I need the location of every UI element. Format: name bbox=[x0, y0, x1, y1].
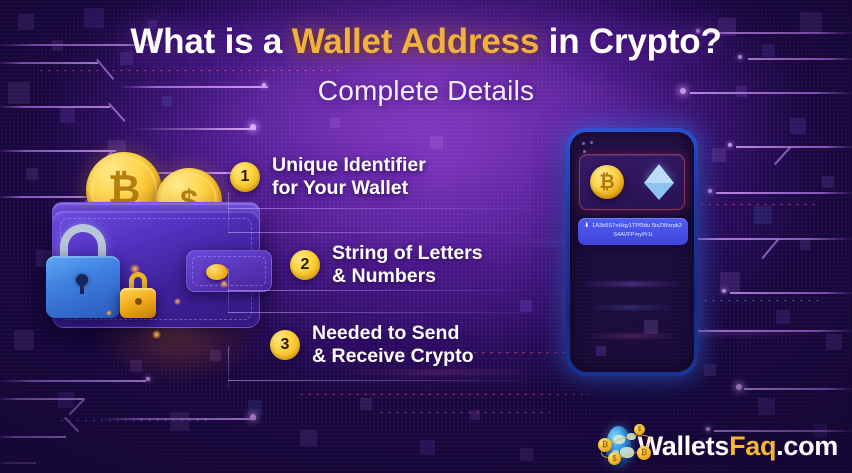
list-divider bbox=[228, 208, 546, 209]
list-bracket-left bbox=[228, 346, 229, 390]
infographic-canvas: What is a Wallet Address in Crypto? Comp… bbox=[0, 0, 852, 473]
list-item-line-2: & Numbers bbox=[332, 265, 483, 288]
orbit-coin-left: ₿ bbox=[598, 438, 612, 452]
orbit-coin-bottom: $ bbox=[608, 452, 621, 465]
ethereum-top-facet bbox=[644, 164, 674, 183]
brand-name: WalletsFaq.com bbox=[638, 431, 838, 462]
screen-square bbox=[596, 346, 606, 356]
phone-sensor-dot bbox=[583, 150, 586, 153]
ember-spark bbox=[130, 264, 140, 274]
smartphone-mockup: ₿ ⬇1A3b5S7nHqy1TPf3du 5isZWxrpk2S4AVFPmy… bbox=[566, 128, 698, 376]
list-item-line-2: for Your Wallet bbox=[272, 177, 426, 200]
list-item-number-badge: 2 bbox=[290, 250, 320, 280]
globe-icon: ₿ $ ₿ $ bbox=[606, 426, 631, 466]
brand-accent: Faq bbox=[729, 431, 776, 461]
list-divider bbox=[228, 380, 544, 381]
title-highlight: Wallet Address bbox=[292, 22, 539, 61]
phone-sensor-dot bbox=[590, 141, 593, 144]
list-divider bbox=[228, 312, 548, 313]
page-subtitle: Complete Details bbox=[0, 75, 852, 107]
list-item-line-2: & Receive Crypto bbox=[312, 345, 473, 368]
list-item-number: 3 bbox=[281, 337, 290, 353]
list-item-number: 1 bbox=[241, 169, 250, 185]
screen-glow-band bbox=[580, 282, 684, 286]
crypto-coin-card: ₿ bbox=[579, 154, 685, 210]
screen-glow-band bbox=[582, 334, 682, 338]
list-bracket-left bbox=[228, 192, 229, 232]
ember-spark bbox=[174, 298, 181, 305]
padlock-large-keyhole bbox=[76, 274, 88, 286]
list-divider bbox=[228, 290, 538, 291]
ember-spark bbox=[220, 280, 228, 288]
list-item-number-badge: 3 bbox=[270, 330, 300, 360]
wallet-clasp-button bbox=[206, 264, 228, 280]
phone-screen: ₿ ⬇1A3b5S7nHqy1TPf3du 5isZWxrpk2S4AVFPmy… bbox=[570, 132, 694, 372]
list-item-text: Unique Identifier for Your Wallet bbox=[272, 154, 426, 199]
list-item[interactable]: 3 Needed to Send & Receive Crypto bbox=[270, 322, 473, 367]
list-item-text: Needed to Send & Receive Crypto bbox=[312, 322, 473, 367]
orbit-coin-top: $ bbox=[634, 424, 645, 435]
list-item-text: String of Letters & Numbers bbox=[332, 242, 483, 287]
site-logo[interactable]: ₿ $ ₿ $ WalletsFaq.com bbox=[606, 424, 838, 468]
list-item-line-1: String of Letters bbox=[332, 242, 483, 265]
wallet-address-icon: ⬇ bbox=[584, 222, 589, 231]
ember-spark bbox=[152, 330, 161, 339]
list-item-line-1: Needed to Send bbox=[312, 322, 473, 345]
list-item-line-1: Unique Identifier bbox=[272, 154, 426, 177]
orbit-coin-symbol: $ bbox=[638, 426, 642, 433]
ethereum-icon bbox=[644, 164, 674, 200]
list-item-number-badge: 1 bbox=[230, 162, 260, 192]
key-points-list: 1 Unique Identifier for Your Wallet 2 St… bbox=[228, 140, 558, 390]
screen-glow-band bbox=[586, 306, 676, 309]
bitcoin-symbol: ₿ bbox=[599, 173, 614, 192]
orbit-coin-symbol: $ bbox=[612, 455, 616, 463]
orbit-coin-symbol: ₿ bbox=[641, 449, 648, 457]
brand-tld: .com bbox=[776, 431, 838, 461]
list-item-number: 2 bbox=[301, 257, 310, 273]
bitcoin-icon: ₿ bbox=[590, 165, 624, 199]
orbit-coin-right: ₿ bbox=[637, 446, 651, 460]
phone-camera-dot bbox=[582, 142, 585, 145]
padlock-small-keyhole bbox=[135, 298, 142, 305]
wallet-address-text: 1A3b5S7nHqy1TPf3du 5isZWxrpk2S4AVFPmyPr1… bbox=[592, 223, 682, 238]
wallet-address-pill[interactable]: ⬇1A3b5S7nHqy1TPf3du 5isZWxrpk2S4AVFPmyPr… bbox=[578, 218, 688, 245]
screen-square bbox=[644, 320, 658, 334]
brand-main: Wallets bbox=[638, 431, 729, 461]
list-divider bbox=[228, 232, 554, 233]
list-item[interactable]: 2 String of Letters & Numbers bbox=[290, 242, 483, 287]
list-item[interactable]: 1 Unique Identifier for Your Wallet bbox=[230, 154, 426, 199]
orbit-coin-symbol: ₿ bbox=[602, 441, 609, 449]
title-part-2: in Crypto? bbox=[539, 22, 722, 61]
ethereum-bottom-facet bbox=[644, 183, 674, 200]
page-title: What is a Wallet Address in Crypto? bbox=[0, 22, 852, 62]
ember-spark bbox=[106, 310, 112, 316]
title-part-1: What is a bbox=[130, 22, 291, 61]
